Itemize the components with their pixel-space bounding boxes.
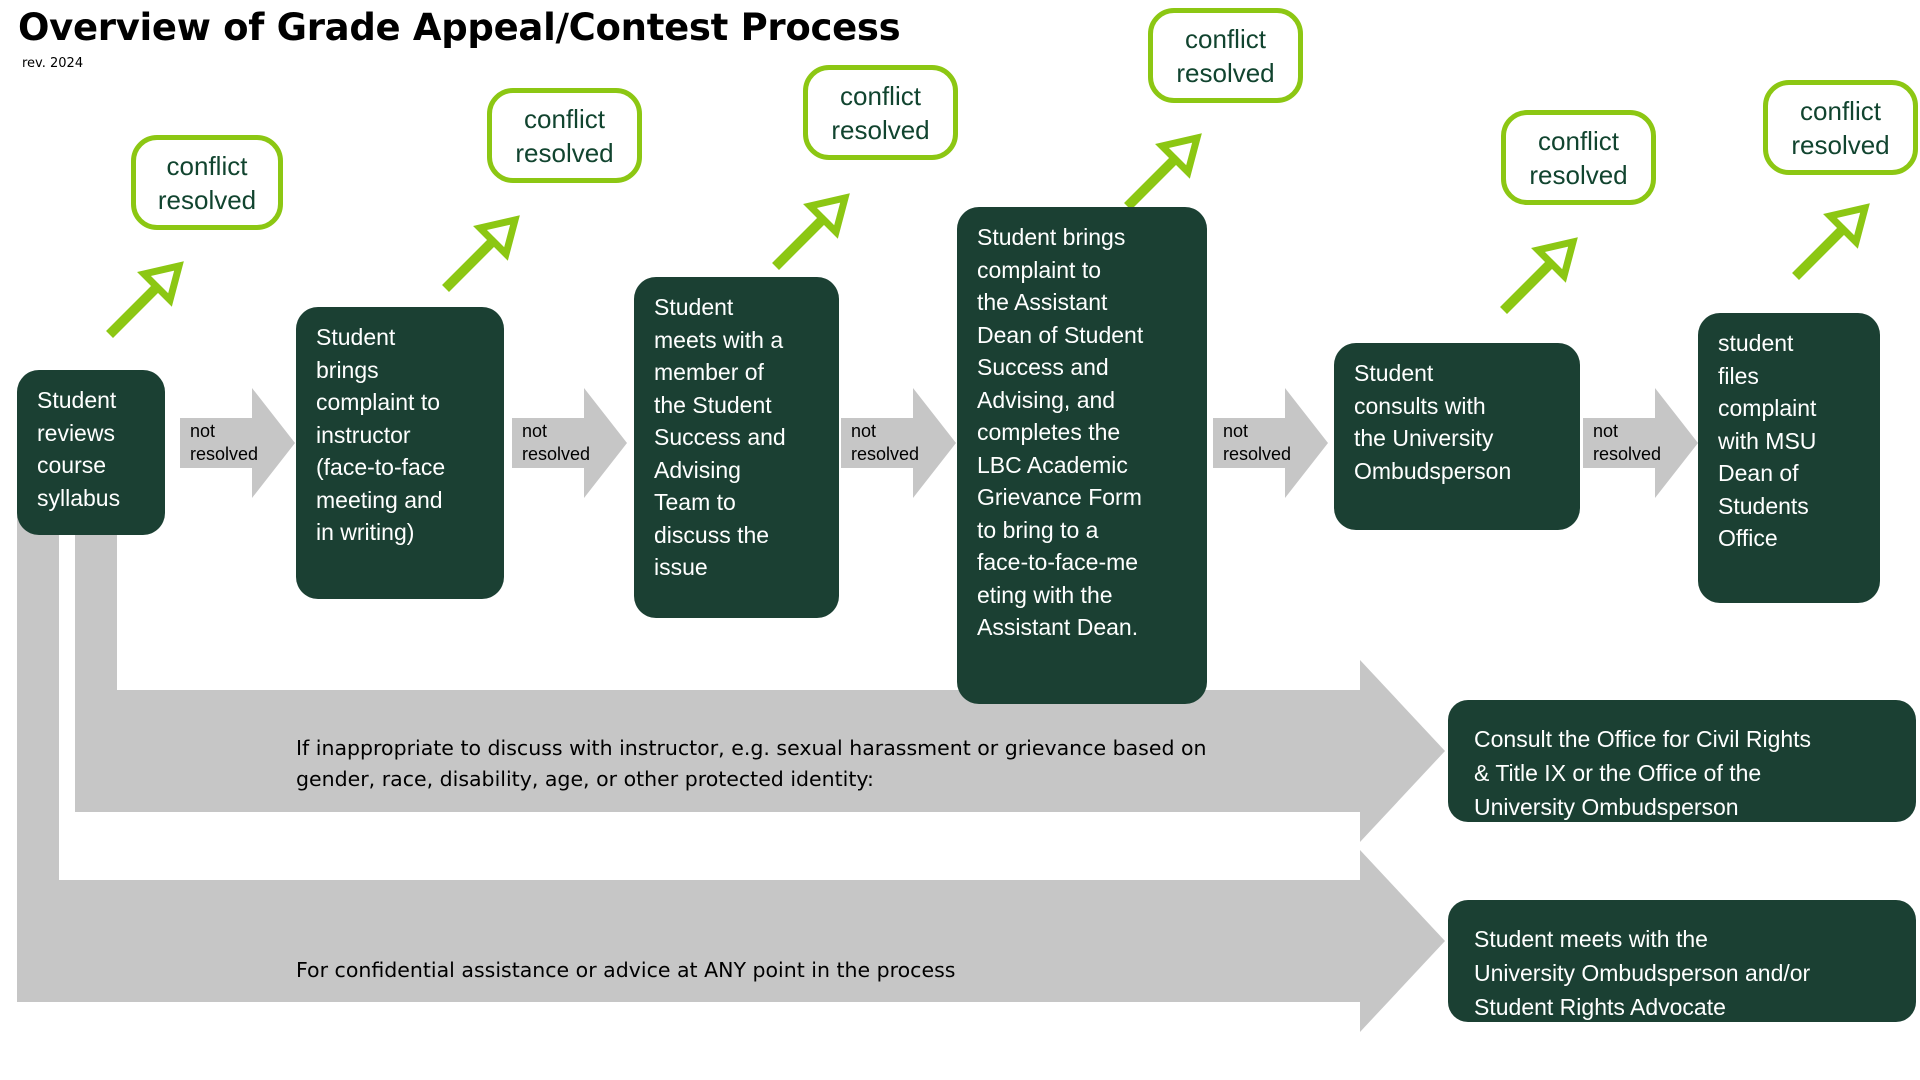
- connector-2-label: not resolved: [522, 420, 590, 466]
- resolved-arrow-4-icon: [1122, 118, 1204, 208]
- process-step-4[interactable]: Student brings complaint to the Assistan…: [957, 207, 1207, 704]
- revision-label: rev. 2024: [22, 56, 83, 71]
- connector-1: not resolved: [180, 388, 295, 498]
- connector-2: not resolved: [512, 388, 627, 498]
- flowchart-canvas: Overview of Grade Appeal/Contest Process…: [0, 0, 1920, 1080]
- process-step-6[interactable]: student files complaint with MSU Dean of…: [1698, 313, 1880, 603]
- resolved-arrow-6-icon: [1790, 188, 1872, 278]
- process-step-5[interactable]: Student consults with the University Omb…: [1334, 343, 1580, 530]
- connector-1-label: not resolved: [190, 420, 258, 466]
- resolved-arrow-3-icon: [770, 178, 852, 268]
- resolved-bubble-4: conflict resolved: [1148, 8, 1303, 103]
- resolved-bubble-2: conflict resolved: [487, 88, 642, 183]
- connector-4: not resolved: [1213, 388, 1328, 498]
- grey-arrow-upper-head: [1360, 660, 1445, 842]
- resolved-bubble-5: conflict resolved: [1501, 110, 1656, 205]
- resolved-bubble-3: conflict resolved: [803, 65, 958, 160]
- process-step-2[interactable]: Student brings complaint to instructor (…: [296, 307, 504, 599]
- alternate-path-2-outcome[interactable]: Student meets with the University Ombuds…: [1448, 900, 1916, 1022]
- connector-5-label: not resolved: [1593, 420, 1661, 466]
- process-step-3[interactable]: Student meets with a member of the Stude…: [634, 277, 839, 618]
- connector-3-label: not resolved: [851, 420, 919, 466]
- resolved-arrow-2-icon: [440, 200, 522, 290]
- connector-3: not resolved: [841, 388, 956, 498]
- connector-5: not resolved: [1583, 388, 1698, 498]
- page-title: Overview of Grade Appeal/Contest Process: [18, 6, 900, 49]
- resolved-bubble-6: conflict resolved: [1763, 80, 1918, 175]
- grey-arrow-lower-head: [1360, 850, 1445, 1032]
- resolved-arrow-5-icon: [1498, 222, 1580, 312]
- alternate-path-1-outcome[interactable]: Consult the Office for Civil Rights & Ti…: [1448, 700, 1916, 822]
- resolved-arrow-1-icon: [104, 246, 186, 336]
- connector-4-label: not resolved: [1223, 420, 1291, 466]
- alternate-path-2-condition: For confidential assistance or advice at…: [296, 955, 1306, 986]
- resolved-bubble-1: conflict resolved: [131, 135, 283, 230]
- process-step-1[interactable]: Student reviews course syllabus: [17, 370, 165, 535]
- alternate-path-1-condition: If inappropriate to discuss with instruc…: [296, 733, 1306, 795]
